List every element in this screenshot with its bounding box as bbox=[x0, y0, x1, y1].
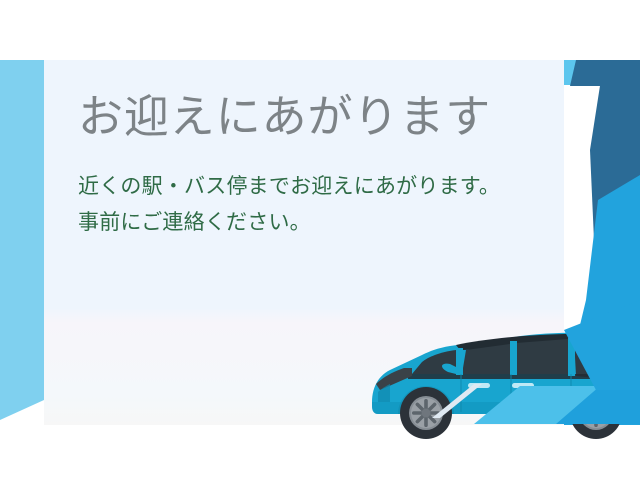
promo-banner: お迎えにあがります 近くの駅・バス停までお迎えにあがります。 事前にご連絡くださ… bbox=[0, 0, 640, 480]
van-door-seam-front bbox=[460, 374, 462, 412]
van-a-pillar bbox=[456, 348, 463, 375]
van-b-pillar bbox=[510, 341, 517, 375]
description-line-1: 近くの駅・バス停までお迎えにあがります。 bbox=[78, 169, 548, 205]
van-rear-door-glass bbox=[516, 339, 568, 374]
description-line-2: 事前にご連絡ください。 bbox=[78, 205, 548, 241]
van-rear-wheel bbox=[570, 387, 622, 439]
van-front-wheel bbox=[400, 387, 452, 439]
van-rear-glass bbox=[574, 336, 640, 380]
van-door-seam-rear bbox=[510, 374, 512, 412]
minivan-illustration bbox=[364, 310, 640, 455]
van-window-frame bbox=[408, 374, 640, 379]
text-block: お迎えにあがります 近くの駅・バス停までお迎えにあがります。 事前にご連絡くださ… bbox=[78, 94, 548, 241]
left-top-notch bbox=[0, 60, 44, 80]
van-door-handle-rear bbox=[512, 383, 534, 388]
description-block: 近くの駅・バス停までお迎えにあがります。 事前にご連絡ください。 bbox=[78, 169, 548, 241]
van-c-pillar bbox=[568, 338, 575, 376]
content-panel: お迎えにあがります 近くの駅・バス停までお迎えにあがります。 事前にご連絡くださ… bbox=[44, 60, 564, 425]
top-right-dark-blue-strip bbox=[570, 60, 640, 86]
van-door-handle-front bbox=[468, 383, 490, 388]
page-title: お迎えにあがります bbox=[78, 94, 548, 139]
left-light-blue-band bbox=[0, 60, 44, 420]
